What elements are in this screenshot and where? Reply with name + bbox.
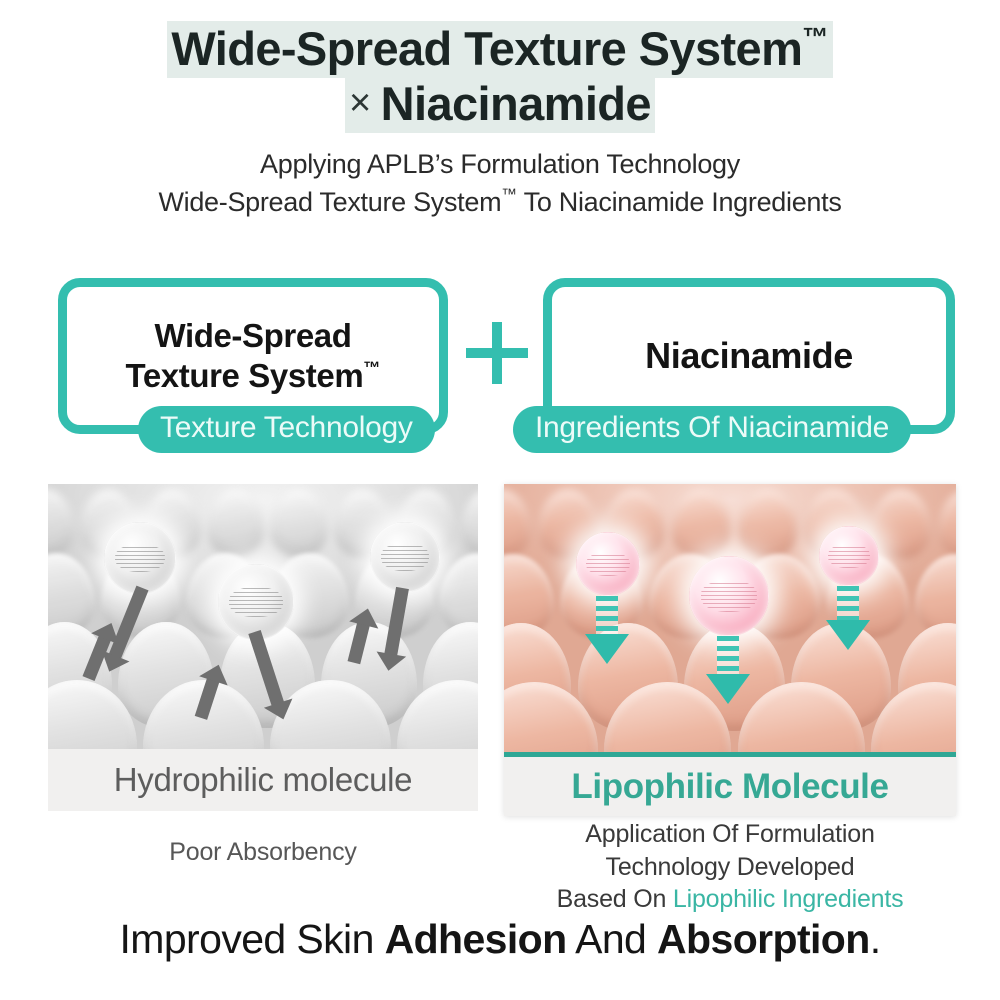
subtitle-line-2-b: To Niacinamide Ingredients [517,187,842,217]
title-highlight-2: ×Niacinamide [345,76,655,133]
poor-absorbency-text: Poor Absorbency [48,838,478,867]
niacinamide-box-text: Niacinamide [645,334,853,378]
lipophilic-scene [504,484,956,752]
hydrophilic-scene [48,484,478,749]
lipophilic-description-line-1: Application Of Formulation [504,818,956,851]
footer-text-c: . [870,916,881,962]
lipophilic-molecule-icon [689,556,769,636]
title-secondary-text: Niacinamide [381,77,651,130]
texture-system-box-wrapper: Wide-Spread Texture System™ Texture Tech… [58,278,448,434]
title-main-text: Wide-Spread Texture System [171,22,802,75]
lipophilic-description-line-3: Based On Lipophilic Ingredients [504,883,956,916]
hydrophilic-molecule-icon [370,522,440,592]
texture-system-line-2: Texture System [126,357,364,394]
lipophilic-description-line-3-prefix: Based On [557,885,673,913]
niacinamide-box-wrapper: Niacinamide Ingredients Of Niacinamide [543,278,955,434]
hydrophilic-panel: Hydrophilic molecule [48,484,478,811]
infographic-root: Wide-Spread Texture System™ ×Niacinamide… [0,0,1000,1000]
subtitle-block: Applying APLB’s Formulation Technology W… [0,145,1000,222]
subtitle-line-2: Wide-Spread Texture System™ To Niacinami… [0,183,1000,221]
lipophilic-panel: Lipophilic Molecule [504,484,956,816]
trademark-icon: ™ [363,357,380,377]
footer-text-a: Improved Skin [120,916,385,962]
trademark-icon: ™ [501,187,517,204]
absorption-arrow-icon [717,636,739,678]
skin-cell-row-far [504,489,956,559]
texture-system-line-1: Wide-Spread [154,317,351,354]
lipophilic-caption: Lipophilic Molecule [504,752,956,816]
footer-bold-absorption: Absorption [657,916,870,962]
subtitle-line-1: Applying APLB’s Formulation Technology [0,145,1000,183]
subtitle-line-2-a: Wide-Spread Texture System [158,187,501,217]
texture-technology-pill: Texture Technology [138,406,435,453]
lipophilic-ingredients-highlight: Lipophilic Ingredients [673,885,903,913]
footer-bold-adhesion: Adhesion [385,916,567,962]
hydrophilic-molecule-icon [218,564,294,640]
title-line-2: ×Niacinamide [0,77,1000,132]
formula-box-row: Wide-Spread Texture System™ Texture Tech… [0,278,1000,468]
niacinamide-ingredients-pill: Ingredients Of Niacinamide [513,406,911,453]
lipophilic-description: Application Of Formulation Technology De… [504,818,956,916]
footer-headline: Improved Skin Adhesion And Absorption. [0,916,1000,963]
footer-text-b: And [567,916,657,962]
title-highlight-1: Wide-Spread Texture System™ [167,21,832,78]
absorption-arrow-icon [596,596,618,638]
hydrophilic-molecule-icon [104,522,176,594]
texture-system-box-text: Wide-Spread Texture System™ [126,316,381,397]
plus-icon [466,322,528,384]
lipophilic-description-line-2: Technology Developed [504,851,956,884]
comparison-panels: Hydrophilic molecule [0,484,1000,814]
absorption-arrow-icon [837,586,859,624]
title-line-1: Wide-Spread Texture System™ [0,22,1000,77]
lipophilic-molecule-icon [819,526,879,586]
multiply-icon: × [349,82,381,124]
hydrophilic-caption: Hydrophilic molecule [48,749,478,811]
skin-cell-row-front [48,680,478,749]
title-block: Wide-Spread Texture System™ ×Niacinamide [0,0,1000,131]
trademark-icon: ™ [802,22,828,52]
lipophilic-molecule-icon [576,532,640,596]
